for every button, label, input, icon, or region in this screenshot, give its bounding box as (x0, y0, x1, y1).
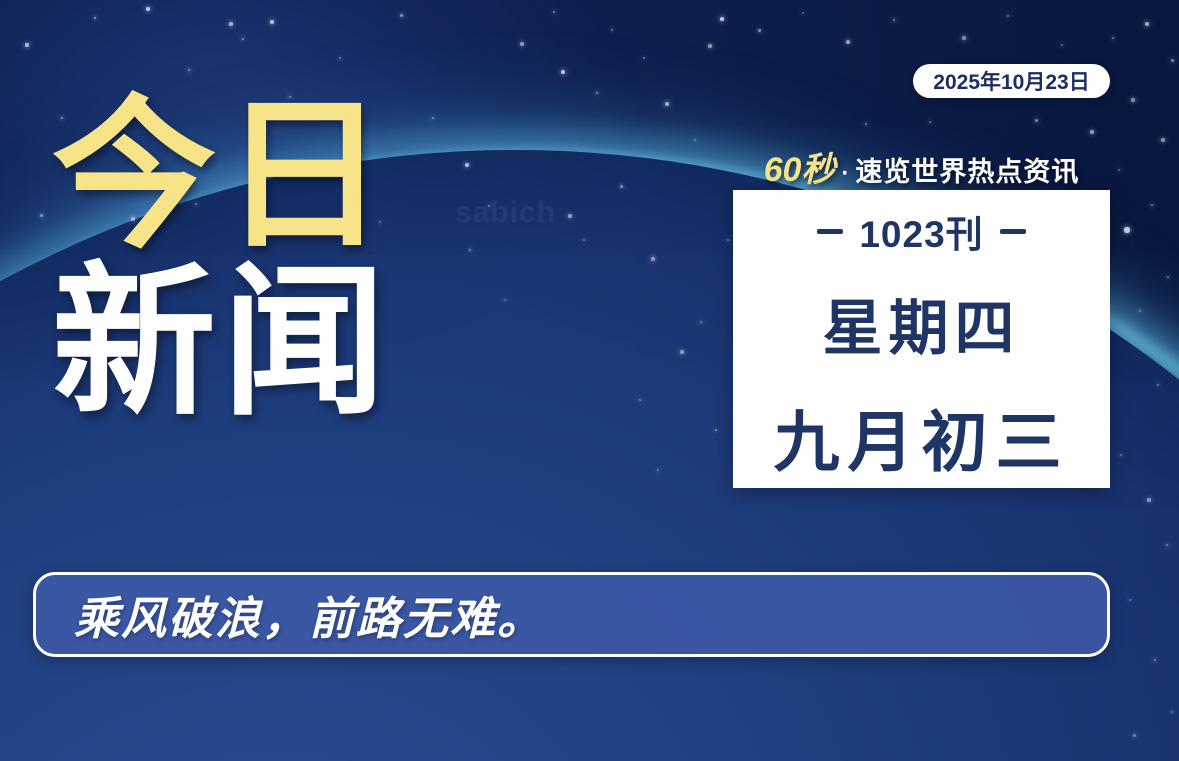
dash-left-icon (817, 229, 843, 234)
tagline-text: 速览世界热点资讯 (855, 150, 1079, 189)
quote-text: 乘风破浪，前路无难。 (74, 582, 544, 647)
tagline: 60秒 · 速览世界热点资讯 (733, 142, 1110, 191)
lunar-date-label: 九月初三 (774, 389, 1070, 485)
quote-bar: 乘风破浪，前路无难。 (33, 572, 1110, 657)
title-line-xinwen: 新闻 (52, 263, 472, 424)
title-line-jinri: 今日 (52, 96, 472, 257)
poster-root: sabich 今日 新闻 2025年10月23日 60秒 · 速览世界热点资讯 … (0, 0, 1179, 761)
date-badge: 2025年10月23日 (913, 64, 1110, 98)
weekday-label: 星期四 (823, 280, 1021, 367)
date-badge-text: 2025年10月23日 (933, 66, 1089, 96)
info-card: 1023刊 星期四 九月初三 (733, 190, 1110, 488)
issue-number-row: 1023刊 (817, 204, 1025, 258)
page-title: 今日 新闻 (52, 96, 472, 423)
dash-right-icon (1000, 229, 1026, 234)
tagline-separator: · (839, 160, 851, 188)
issue-number-label: 1023刊 (859, 204, 983, 258)
tagline-highlight: 60秒 (764, 142, 836, 191)
